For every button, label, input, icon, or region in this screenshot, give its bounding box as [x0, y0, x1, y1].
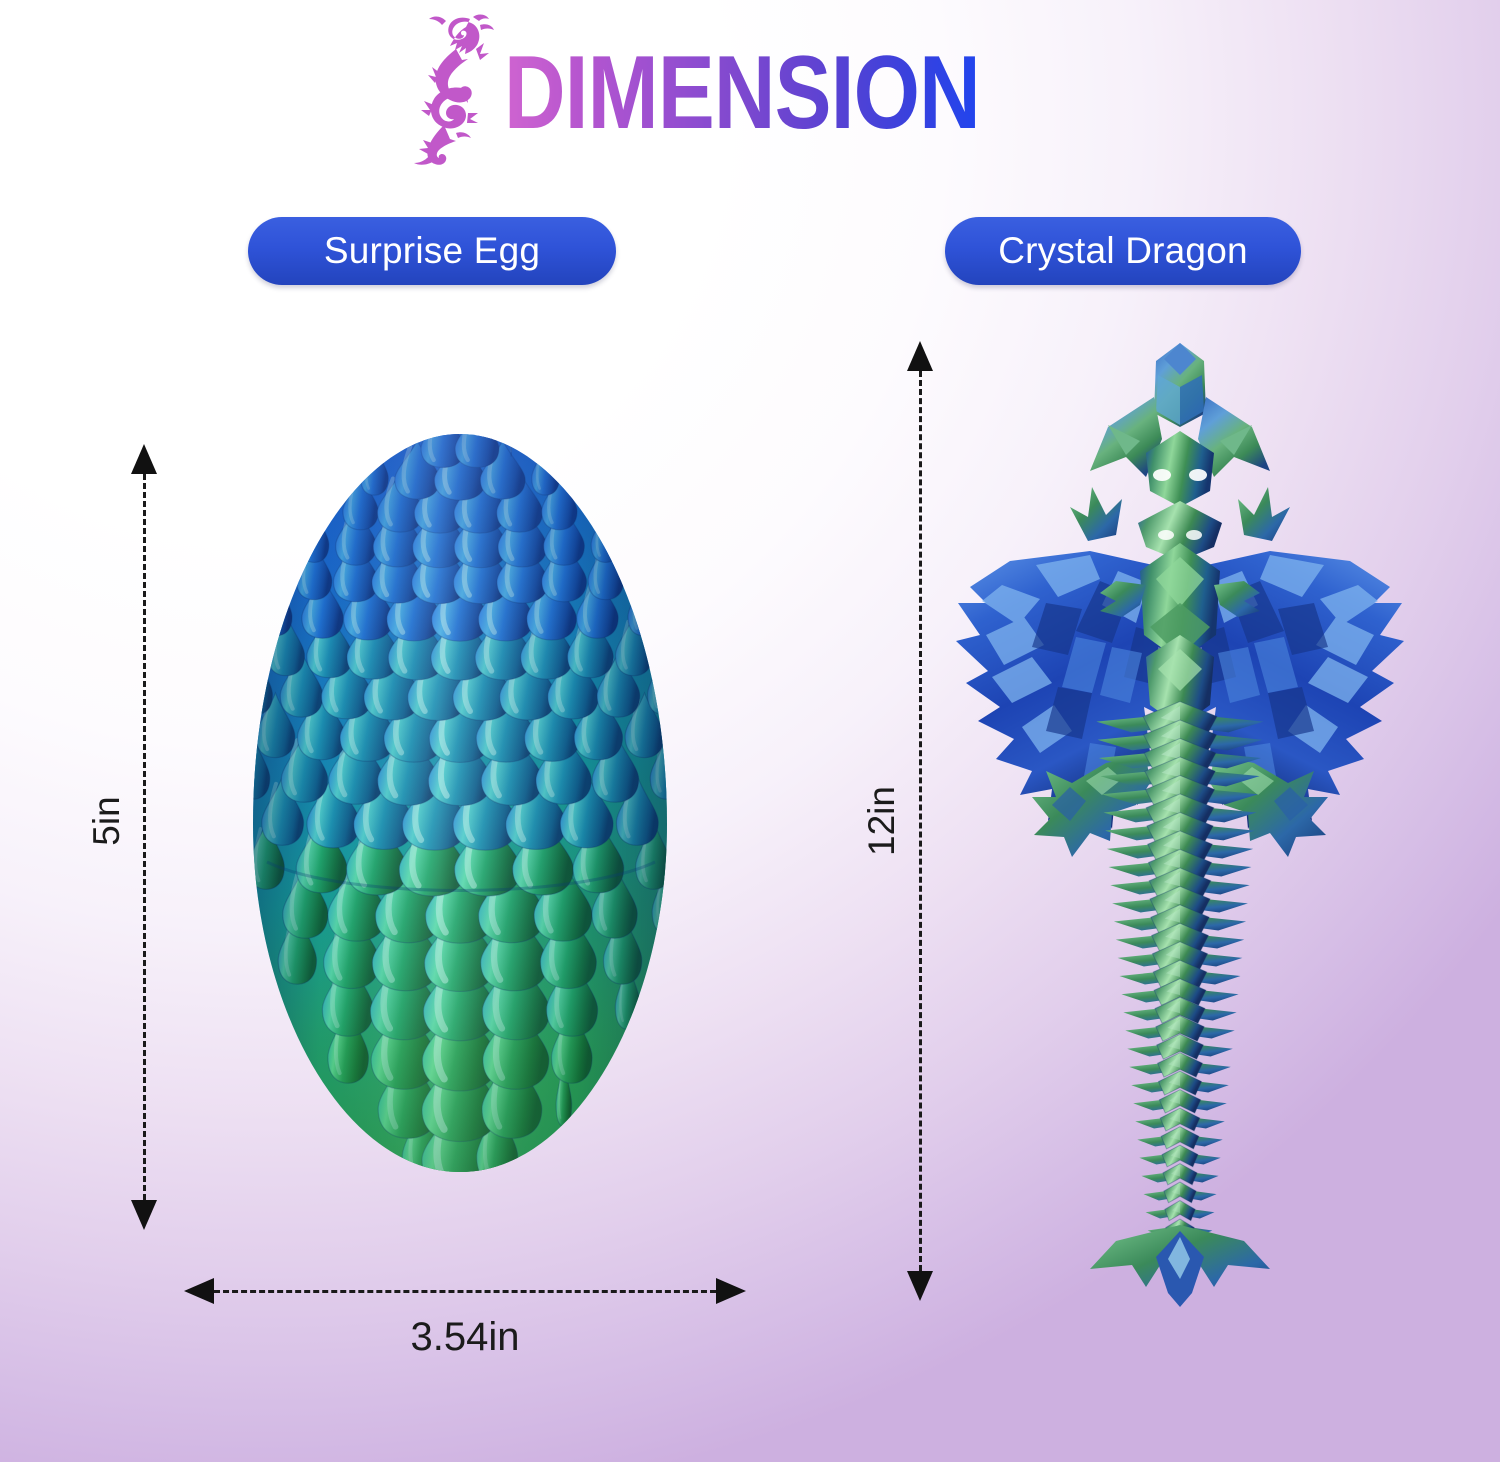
product-label-text: Crystal Dragon [998, 230, 1248, 272]
egg-scale [589, 478, 609, 526]
dragon-logo-icon [410, 13, 502, 168]
brand-header: DIMENSION [0, 10, 1500, 175]
egg-width-arrow-right [716, 1278, 746, 1304]
dragon-height-dimension-line [919, 371, 922, 1271]
egg-scale-highlight [306, 515, 310, 556]
egg-scale-highlight [680, 786, 684, 833]
egg-scale [665, 617, 690, 672]
egg-scale-highlight [267, 585, 271, 628]
egg-height-label: 5in [86, 766, 128, 876]
product-label-crystal-dragon[interactable]: Crystal Dragon [945, 217, 1301, 285]
egg-height-dimension-line [143, 474, 146, 1200]
dragon-scale-egg-illustration [195, 430, 725, 1220]
product-label-surprise-egg[interactable]: Surprise Egg [248, 217, 616, 285]
egg-height-arrow-bottom [131, 1200, 157, 1230]
product-image-surprise-egg [195, 430, 725, 1220]
egg-scale-highlight [670, 624, 674, 666]
egg-scale [636, 545, 659, 597]
brand-wordmark: DIMENSION [504, 41, 985, 145]
dragon-height-arrow-top [907, 341, 933, 371]
egg-width-arrow-left [184, 1278, 214, 1304]
egg-scale [674, 779, 702, 841]
egg-height-arrow-top [131, 444, 157, 474]
egg-side-shading [253, 434, 667, 1172]
dragon-height-arrow-bottom [907, 1271, 933, 1301]
egg-scale-highlight [242, 742, 247, 791]
egg-width-dimension-line [214, 1290, 716, 1293]
egg-width-label: 3.54in [260, 1315, 670, 1360]
infographic-canvas: DIMENSION Surprise Egg Crystal Dragon 5i… [0, 0, 1500, 1462]
egg-scale [677, 696, 704, 755]
egg-scale-highlight [640, 550, 643, 590]
product-label-text: Surprise Egg [324, 230, 540, 272]
dragon-torso [1140, 543, 1220, 727]
egg-scale-highlight [247, 661, 252, 707]
product-image-crystal-dragon [940, 335, 1420, 1310]
dragon-height-label: 12in [861, 761, 903, 881]
egg-scale-highlight [683, 702, 687, 747]
crystal-dragon-illustration [940, 335, 1420, 1310]
egg-scale-highlight [593, 483, 596, 520]
